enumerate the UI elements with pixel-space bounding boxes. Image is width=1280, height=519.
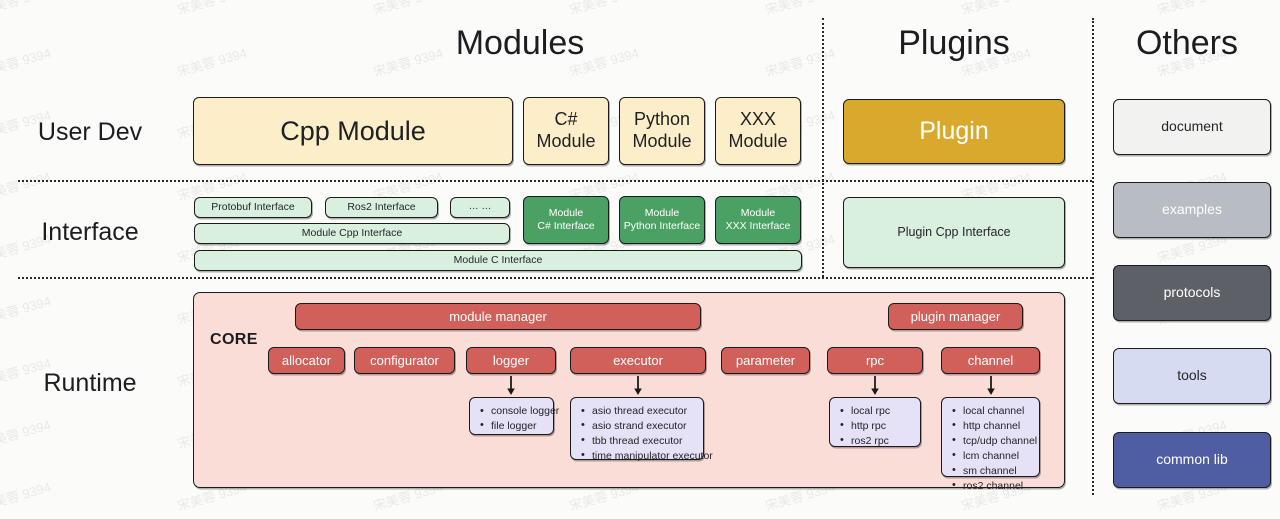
executor-details-list: asio thread executorasio strand executor… bbox=[579, 404, 696, 464]
box-plugin-label: Plugin bbox=[919, 116, 989, 147]
watermark-text: 宋美蓉 9394 bbox=[567, 0, 641, 18]
column-heading-others: Others bbox=[1100, 24, 1274, 63]
box-document[interactable]: document bbox=[1113, 99, 1271, 155]
box-python-module-label-line1: Python bbox=[634, 109, 690, 131]
core-label: CORE bbox=[210, 331, 258, 349]
box-protobuf-interface-label: Protobuf Interface bbox=[211, 201, 294, 214]
box-module-xxx-interface-label-line2: XXX Interface bbox=[726, 220, 791, 233]
watermark-text: 宋美蓉 9394 bbox=[175, 43, 249, 81]
box-plugin-manager-label: plugin manager bbox=[911, 309, 1001, 325]
box-module-cpp-interface[interactable]: Module Cpp Interface bbox=[194, 223, 510, 244]
divider-interface-runtime bbox=[18, 277, 1092, 279]
box-plugin-manager[interactable]: plugin manager bbox=[888, 303, 1023, 330]
box-common-lib[interactable]: common lib bbox=[1113, 432, 1271, 488]
box-module-python-interface[interactable]: Module Python Interface bbox=[619, 196, 705, 244]
box-rpc-label: rpc bbox=[866, 353, 884, 369]
box-module-python-interface-label-line1: Module bbox=[645, 207, 679, 220]
box-module-c-interface[interactable]: Module C Interface bbox=[194, 250, 802, 271]
box-tools[interactable]: tools bbox=[1113, 348, 1271, 404]
list-item: time manipulator executor bbox=[592, 449, 696, 464]
watermark-text: 宋美蓉 9394 bbox=[371, 0, 445, 18]
column-heading-modules: Modules bbox=[320, 24, 720, 63]
row-label-interface: Interface bbox=[5, 218, 175, 247]
list-rpc-details[interactable]: local rpchttp rpcros2 rpc bbox=[829, 397, 921, 447]
box-xxx-module-label-line1: XXX bbox=[740, 109, 776, 131]
box-parameter[interactable]: parameter bbox=[721, 347, 810, 374]
watermark-text: 宋美蓉 9394 bbox=[0, 415, 53, 453]
box-allocator[interactable]: allocator bbox=[268, 347, 345, 374]
row-label-user-dev: User Dev bbox=[5, 118, 175, 147]
list-item: tbb thread executor bbox=[592, 434, 696, 449]
box-examples-label: examples bbox=[1162, 201, 1222, 218]
list-channel-details[interactable]: local channelhttp channeltcp/udp channel… bbox=[941, 397, 1040, 477]
list-item: lcm channel bbox=[963, 449, 1032, 464]
box-cpp-module[interactable]: Cpp Module bbox=[193, 97, 513, 165]
channel-details-list: local channelhttp channeltcp/udp channel… bbox=[950, 404, 1032, 493]
box-configurator-label: configurator bbox=[370, 353, 439, 369]
diagram-canvas: 宋美蓉 9394宋美蓉 9394宋美蓉 9394宋美蓉 9394宋美蓉 9394… bbox=[0, 0, 1280, 519]
box-xxx-module-label-line2: Module bbox=[728, 131, 787, 153]
list-item: sm channel bbox=[963, 464, 1032, 479]
list-item: http rpc bbox=[851, 419, 913, 434]
watermark-text: 宋美蓉 9394 bbox=[0, 43, 53, 81]
box-common-lib-label: common lib bbox=[1156, 451, 1228, 468]
box-module-manager-label: module manager bbox=[449, 309, 547, 325]
box-parameter-label: parameter bbox=[736, 353, 795, 369]
box-csharp-module-label-line2: Module bbox=[536, 131, 595, 153]
list-item: http channel bbox=[963, 419, 1032, 434]
box-logger-label: logger bbox=[493, 353, 529, 369]
box-module-csharp-interface-label-line2: C# Interface bbox=[537, 220, 594, 233]
box-ros2-interface-label: Ros2 Interface bbox=[347, 201, 415, 214]
watermark-text: 宋美蓉 9394 bbox=[763, 43, 837, 81]
box-examples[interactable]: examples bbox=[1113, 182, 1271, 238]
list-item: asio strand executor bbox=[592, 419, 696, 434]
box-ros2-interface[interactable]: Ros2 Interface bbox=[325, 197, 438, 218]
box-plugin-cpp-interface[interactable]: Plugin Cpp Interface bbox=[843, 197, 1065, 268]
divider-plugins-others bbox=[1092, 18, 1094, 495]
list-item: console logger bbox=[491, 404, 546, 419]
list-item: asio thread executor bbox=[592, 404, 696, 419]
rpc-details-list: local rpchttp rpcros2 rpc bbox=[838, 404, 913, 449]
watermark-text: 宋美蓉 9394 bbox=[0, 0, 53, 18]
box-rpc[interactable]: rpc bbox=[827, 347, 923, 374]
box-plugin-cpp-interface-label: Plugin Cpp Interface bbox=[897, 225, 1010, 240]
watermark-text: 宋美蓉 9394 bbox=[763, 0, 837, 18]
box-module-manager[interactable]: module manager bbox=[295, 303, 701, 330]
watermark-text: 宋美蓉 9394 bbox=[0, 477, 53, 515]
watermark-text: 宋美蓉 9394 bbox=[959, 0, 1033, 18]
box-module-csharp-interface-label-line1: Module bbox=[549, 207, 583, 220]
box-allocator-label: allocator bbox=[282, 353, 331, 369]
box-module-csharp-interface[interactable]: Module C# Interface bbox=[523, 196, 609, 244]
box-module-cpp-interface-label: Module Cpp Interface bbox=[302, 227, 402, 240]
box-protobuf-interface[interactable]: Protobuf Interface bbox=[194, 197, 312, 218]
box-configurator[interactable]: configurator bbox=[354, 347, 455, 374]
list-executor-details[interactable]: asio thread executorasio strand executor… bbox=[570, 397, 704, 460]
box-module-c-interface-label: Module C Interface bbox=[454, 254, 543, 267]
row-label-runtime: Runtime bbox=[5, 369, 175, 398]
list-item: local rpc bbox=[851, 404, 913, 419]
list-logger-details[interactable]: console loggerfile logger bbox=[469, 397, 554, 435]
box-xxx-module[interactable]: XXX Module bbox=[715, 97, 801, 165]
box-csharp-module-label-line1: C# bbox=[554, 109, 577, 131]
list-item: file logger bbox=[491, 419, 546, 434]
box-more-interfaces[interactable]: … … bbox=[450, 197, 510, 218]
box-python-module[interactable]: Python Module bbox=[619, 97, 705, 165]
box-plugin[interactable]: Plugin bbox=[843, 99, 1065, 164]
list-item: ros2 channel bbox=[963, 479, 1032, 494]
logger-details-list: console loggerfile logger bbox=[478, 404, 546, 434]
box-logger[interactable]: logger bbox=[466, 347, 556, 374]
box-module-python-interface-label-line2: Python Interface bbox=[624, 220, 700, 233]
box-protocols[interactable]: protocols bbox=[1113, 265, 1271, 321]
box-python-module-label-line2: Module bbox=[632, 131, 691, 153]
divider-modules-plugins bbox=[822, 18, 824, 277]
list-item: tcp/udp channel bbox=[963, 434, 1032, 449]
box-protocols-label: protocols bbox=[1164, 284, 1221, 301]
box-executor[interactable]: executor bbox=[570, 347, 706, 374]
arrow-rpc-to-details bbox=[868, 376, 882, 396]
box-csharp-module[interactable]: C# Module bbox=[523, 97, 609, 165]
box-executor-label: executor bbox=[613, 353, 663, 369]
box-document-label: document bbox=[1161, 118, 1222, 135]
arrow-executor-to-details bbox=[631, 376, 645, 396]
box-module-xxx-interface[interactable]: Module XXX Interface bbox=[715, 196, 801, 244]
watermark-text: 宋美蓉 9394 bbox=[1155, 0, 1229, 18]
arrow-channel-to-details bbox=[984, 376, 998, 396]
divider-userdev-interface bbox=[18, 180, 1092, 182]
list-item: ros2 rpc bbox=[851, 434, 913, 449]
arrow-logger-to-details bbox=[504, 376, 518, 396]
list-item: local channel bbox=[963, 404, 1032, 419]
box-channel-label: channel bbox=[968, 353, 1014, 369]
box-channel[interactable]: channel bbox=[941, 347, 1040, 374]
watermark-text: 宋美蓉 9394 bbox=[0, 291, 53, 329]
box-more-interfaces-label: … … bbox=[469, 201, 492, 213]
watermark-text: 宋美蓉 9394 bbox=[0, 167, 53, 205]
box-module-xxx-interface-label-line1: Module bbox=[741, 207, 775, 220]
box-cpp-module-label: Cpp Module bbox=[280, 115, 426, 148]
box-tools-label: tools bbox=[1177, 367, 1207, 384]
watermark-text: 宋美蓉 9394 bbox=[175, 0, 249, 18]
column-heading-plugins: Plugins bbox=[833, 24, 1075, 63]
